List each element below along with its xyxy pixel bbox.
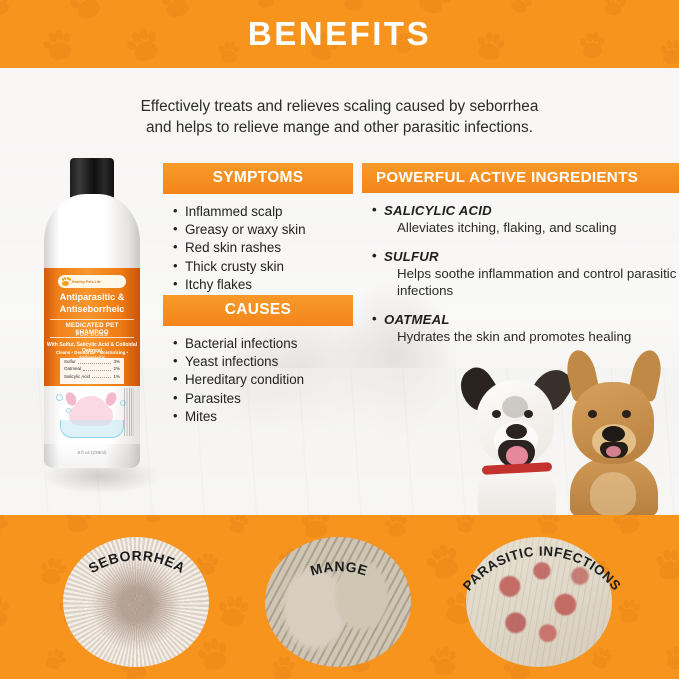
product-name: Antiparasitic & Antiseborrheic — [44, 292, 140, 315]
product-for-label: FOR DOGS — [44, 332, 140, 338]
ingredients-list: SALICYLIC ACID Alleviates itching, flaki… — [372, 203, 679, 345]
bathtub-icon — [60, 420, 124, 438]
panel-ingredient-value: 2% — [113, 366, 120, 372]
condition-mange: MANGE — [265, 537, 411, 667]
intro-line-2: and helps to relieve mange and other par… — [0, 117, 679, 138]
brand-logo-text: Healthy Pets Life — [72, 280, 101, 284]
svg-text:PARASITIC INFECTIONS: PARASITIC INFECTIONS — [460, 544, 624, 594]
ingredient-description: Alleviates itching, flaking, and scaling — [372, 219, 679, 237]
panel-ingredient-value: 1% — [113, 374, 120, 380]
list-item: Red skin rashes — [173, 239, 353, 257]
dog-nose-icon — [602, 426, 625, 442]
ingredient-description: Helps soothe inflammation and control pa… — [372, 265, 679, 300]
causes-list: Bacterial infections Yeast infections He… — [173, 335, 353, 426]
list-item: Mites — [173, 408, 353, 426]
product-name-line-1: Antiparasitic & — [44, 292, 140, 304]
condition-label-text: MANGE — [308, 558, 369, 579]
panel-ingredient-value: 3% — [113, 359, 120, 365]
condition-label-text: SEBORRHEA — [86, 547, 189, 576]
dog-tongue — [506, 446, 528, 465]
bottle-barcode — [124, 388, 134, 436]
condition-parasitic-infections: PARASITIC INFECTIONS — [466, 537, 612, 667]
panel-row: Salicylic Acid 1% — [60, 372, 124, 379]
intro-text: Effectively treats and relieves scaling … — [0, 96, 679, 138]
bottle-label: Healthy Pets Life Antiparasitic & Antise… — [44, 268, 140, 386]
ingredient-item: SULFUR Helps soothe inflammation and con… — [372, 249, 679, 300]
dog-tongue — [606, 446, 621, 457]
dog-eye-icon — [492, 410, 501, 418]
dog-eye-icon — [524, 410, 533, 418]
panel-ingredient-name: Salicylic Acid — [64, 374, 90, 380]
ingredients-section: POWERFUL ACTIVE INGREDIENTS SALICYLIC AC… — [362, 163, 679, 357]
symptoms-section: SYMPTOMS Inflammed scalp Greasy or waxy … — [163, 163, 353, 294]
bottle-cap — [70, 158, 114, 198]
tan-dog — [556, 354, 674, 515]
list-item: Bacterial infections — [173, 335, 353, 353]
product-bottle-image: Healthy Pets Life Antiparasitic & Antise… — [38, 158, 146, 498]
paw-print-icon — [661, 644, 679, 673]
dog-eye-icon — [622, 410, 631, 418]
paw-print-icon — [0, 594, 12, 629]
ingredient-name: SULFUR — [372, 249, 679, 264]
list-item: Inflammed scalp — [173, 203, 353, 221]
list-item: Greasy or waxy skin — [173, 221, 353, 239]
list-item: Itchy flakes — [173, 276, 353, 294]
condition-label: MANGE — [265, 537, 411, 679]
white-dog — [458, 366, 570, 515]
causes-heading: CAUSES — [163, 295, 353, 326]
ingredient-name: SALICYLIC ACID — [372, 203, 679, 218]
svg-text:SEBORRHEA: SEBORRHEA — [86, 547, 189, 576]
bubble-icon — [66, 408, 71, 413]
panel-row: Oatmeal 2% — [60, 365, 124, 372]
svg-text:MANGE: MANGE — [308, 558, 369, 579]
bottle-volume: 8 fl oz (236ml) — [38, 450, 146, 455]
paw-print-icon — [425, 643, 460, 678]
panel-ingredient-name: Oatmeal — [64, 366, 81, 372]
product-name-line-2: Antiseborrheic — [44, 304, 140, 316]
condition-label-text: PARASITIC INFECTIONS — [460, 544, 624, 594]
paw-print-icon — [653, 547, 679, 580]
active-ingredients-panel: Sulfur 3% Oatmeal 2% Salicylic Acid 1% — [60, 358, 124, 384]
causes-section: CAUSES Bacterial infections Yeast infect… — [163, 295, 353, 426]
dog-chest — [590, 472, 636, 515]
panel-row: Sulfur 3% — [60, 358, 124, 365]
condition-label: SEBORRHEA — [63, 537, 209, 679]
list-item: Parasites — [173, 390, 353, 408]
two-dogs-photo — [440, 348, 679, 515]
bubble-icon — [56, 394, 63, 401]
paw-logo-icon — [61, 277, 70, 286]
condition-seborrhea: SEBORRHEA — [63, 537, 209, 667]
ingredient-item: SALICYLIC ACID Alleviates itching, flaki… — [372, 203, 679, 237]
list-item: Yeast infections — [173, 353, 353, 371]
dog-nose-icon — [506, 424, 527, 439]
list-item: Hereditary condition — [173, 371, 353, 389]
ingredients-heading: POWERFUL ACTIVE INGREDIENTS — [362, 163, 679, 193]
brand-logo: Healthy Pets Life — [58, 275, 126, 288]
ingredient-name: OATMEAL — [372, 312, 679, 327]
intro-line-1: Effectively treats and relieves scaling … — [0, 96, 679, 117]
condition-label: PARASITIC INFECTIONS — [466, 537, 612, 679]
paw-print-icon — [226, 515, 251, 535]
header-band: BENEFITS — [0, 0, 679, 68]
benefits-infographic: BENEFITS Effectively treats and relieves… — [0, 0, 679, 679]
conditions-band: SEBORRHEA MANGE PARASITIC INFECTIONS — [0, 515, 679, 679]
list-item: Thick crusty skin — [173, 258, 353, 276]
page-title: BENEFITS — [0, 0, 679, 68]
symptoms-heading: SYMPTOMS — [163, 163, 353, 194]
panel-ingredient-name: Sulfur — [64, 359, 76, 365]
ingredient-item: OATMEAL Hydrates the skin and promotes h… — [372, 312, 679, 346]
ingredient-description: Hydrates the skin and promotes healing — [372, 328, 679, 346]
paw-print-icon — [0, 515, 13, 544]
symptoms-list: Inflammed scalp Greasy or waxy skin Red … — [173, 203, 353, 294]
dog-eye-icon — [588, 410, 597, 418]
